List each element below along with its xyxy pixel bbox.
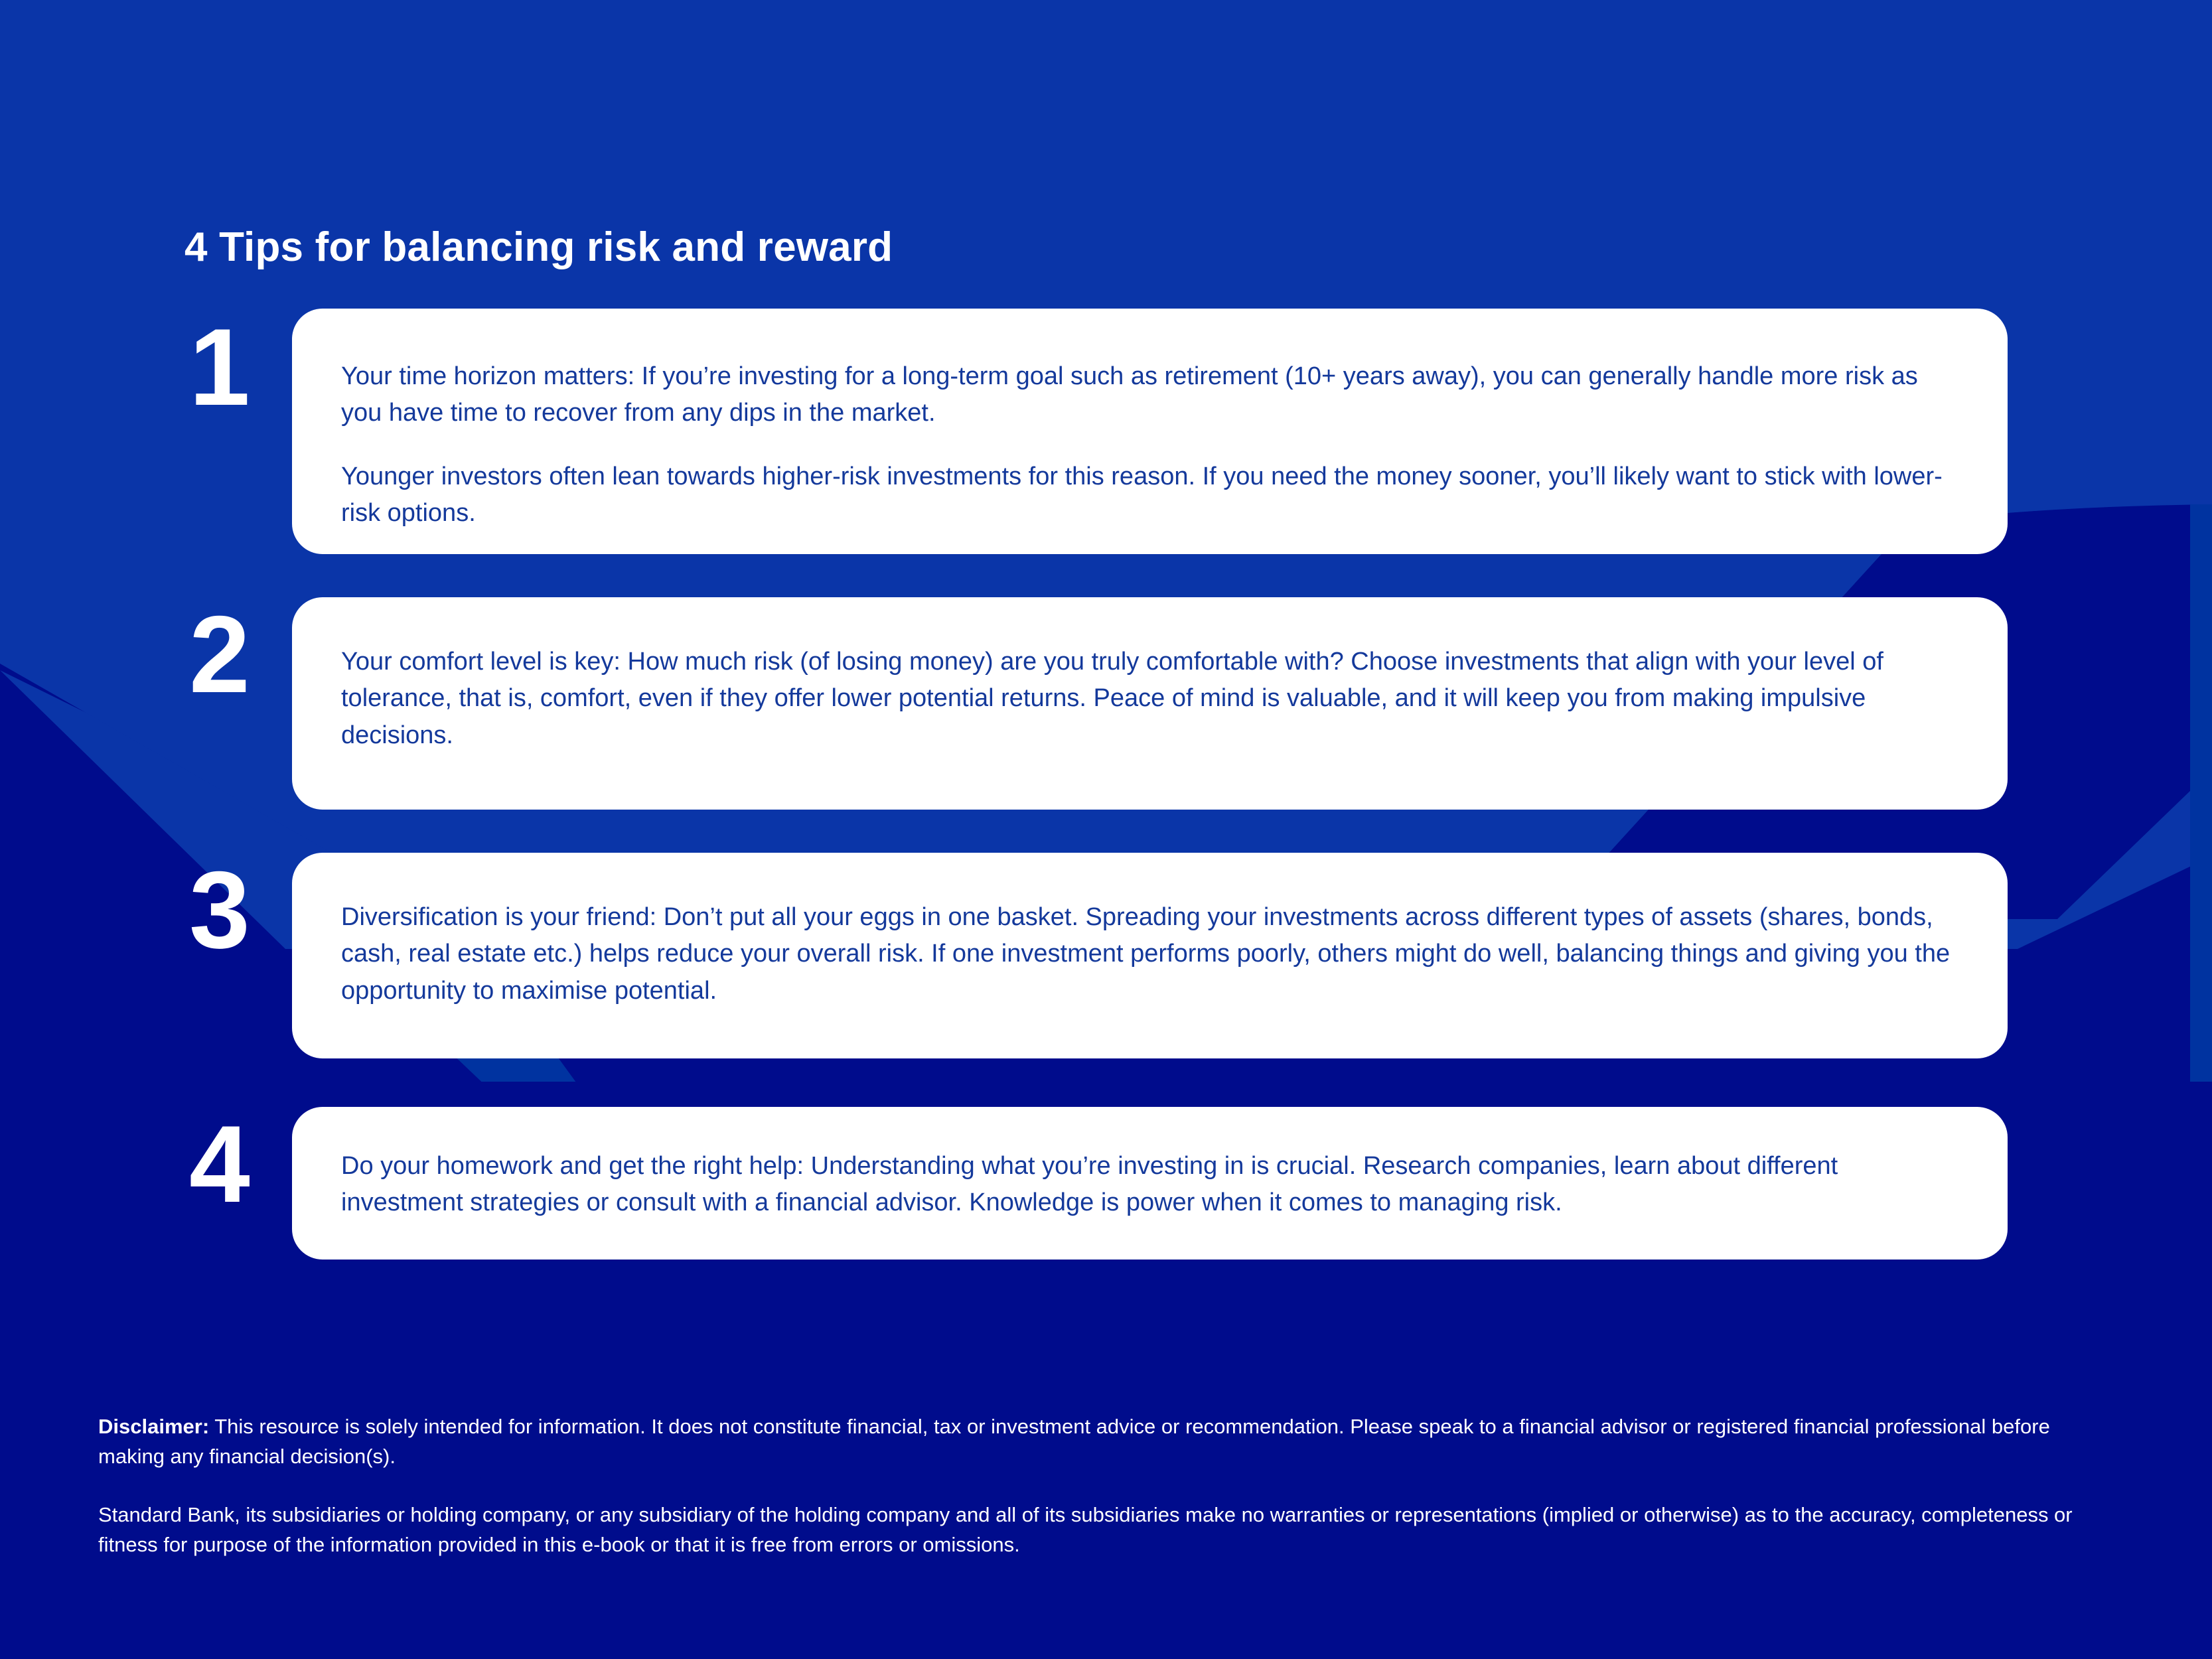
disclaimer-paragraph-1: Disclaimer: This resource is solely inte… <box>98 1412 2116 1471</box>
tip-paragraph: Do your homework and get the right help:… <box>341 1148 1958 1222</box>
tip-card-1: Your time horizon matters: If you’re inv… <box>292 309 2008 554</box>
tip-card-body-1: Your time horizon matters: If you’re inv… <box>292 309 2008 532</box>
tip-number-4: 4 <box>189 1110 289 1219</box>
tip-card-3: Diversification is your friend: Don’t pu… <box>292 853 2008 1058</box>
tip-paragraph: Younger investors often lean towards hig… <box>341 459 1958 532</box>
tip-number-1: 1 <box>189 313 289 422</box>
tip-card-body-4: Do your homework and get the right help:… <box>292 1107 2008 1222</box>
disclaimer-body: This resource is solely intended for inf… <box>98 1415 2050 1468</box>
disclaimer-paragraph-2: Standard Bank, its subsidiaries or holdi… <box>98 1500 2116 1559</box>
page-root: 4 Tips for balancing risk and reward 1 Y… <box>0 0 2212 1659</box>
tip-paragraph: Your comfort level is key: How much risk… <box>341 644 1958 754</box>
content-layer: 4 Tips for balancing risk and reward 1 Y… <box>0 0 2212 1659</box>
tip-card-body-3: Diversification is your friend: Don’t pu… <box>292 853 2008 1009</box>
tip-paragraph: Diversification is your friend: Don’t pu… <box>341 899 1958 1009</box>
tip-number-2: 2 <box>189 600 289 709</box>
tip-card-4: Do your homework and get the right help:… <box>292 1107 2008 1260</box>
tip-number-3: 3 <box>189 855 289 965</box>
tip-paragraph: Your time horizon matters: If you’re inv… <box>341 358 1958 432</box>
disclaimer-label: Disclaimer: <box>98 1415 209 1438</box>
page-title: 4 Tips for balancing risk and reward <box>184 224 893 271</box>
disclaimer: Disclaimer: This resource is solely inte… <box>98 1412 2116 1560</box>
tip-card-2: Your comfort level is key: How much risk… <box>292 597 2008 810</box>
tip-card-body-2: Your comfort level is key: How much risk… <box>292 597 2008 754</box>
